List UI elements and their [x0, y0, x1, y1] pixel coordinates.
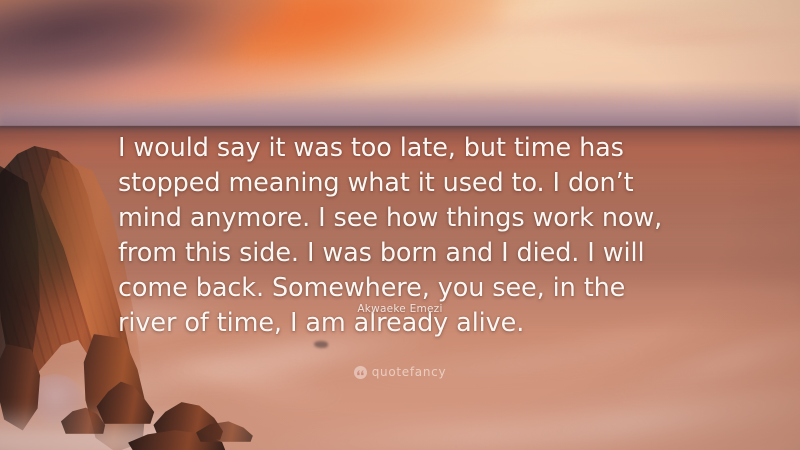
watermark-brand-text: quotefancy [372, 365, 447, 379]
quote-mark-badge-icon [354, 366, 367, 379]
text-overlay: I would say it was too late, but time ha… [0, 0, 800, 450]
quote-author: Akwaeke Emezi [0, 303, 800, 315]
quote-poster: I would say it was too late, but time ha… [0, 0, 800, 450]
quotefancy-watermark: quotefancy [0, 365, 800, 379]
